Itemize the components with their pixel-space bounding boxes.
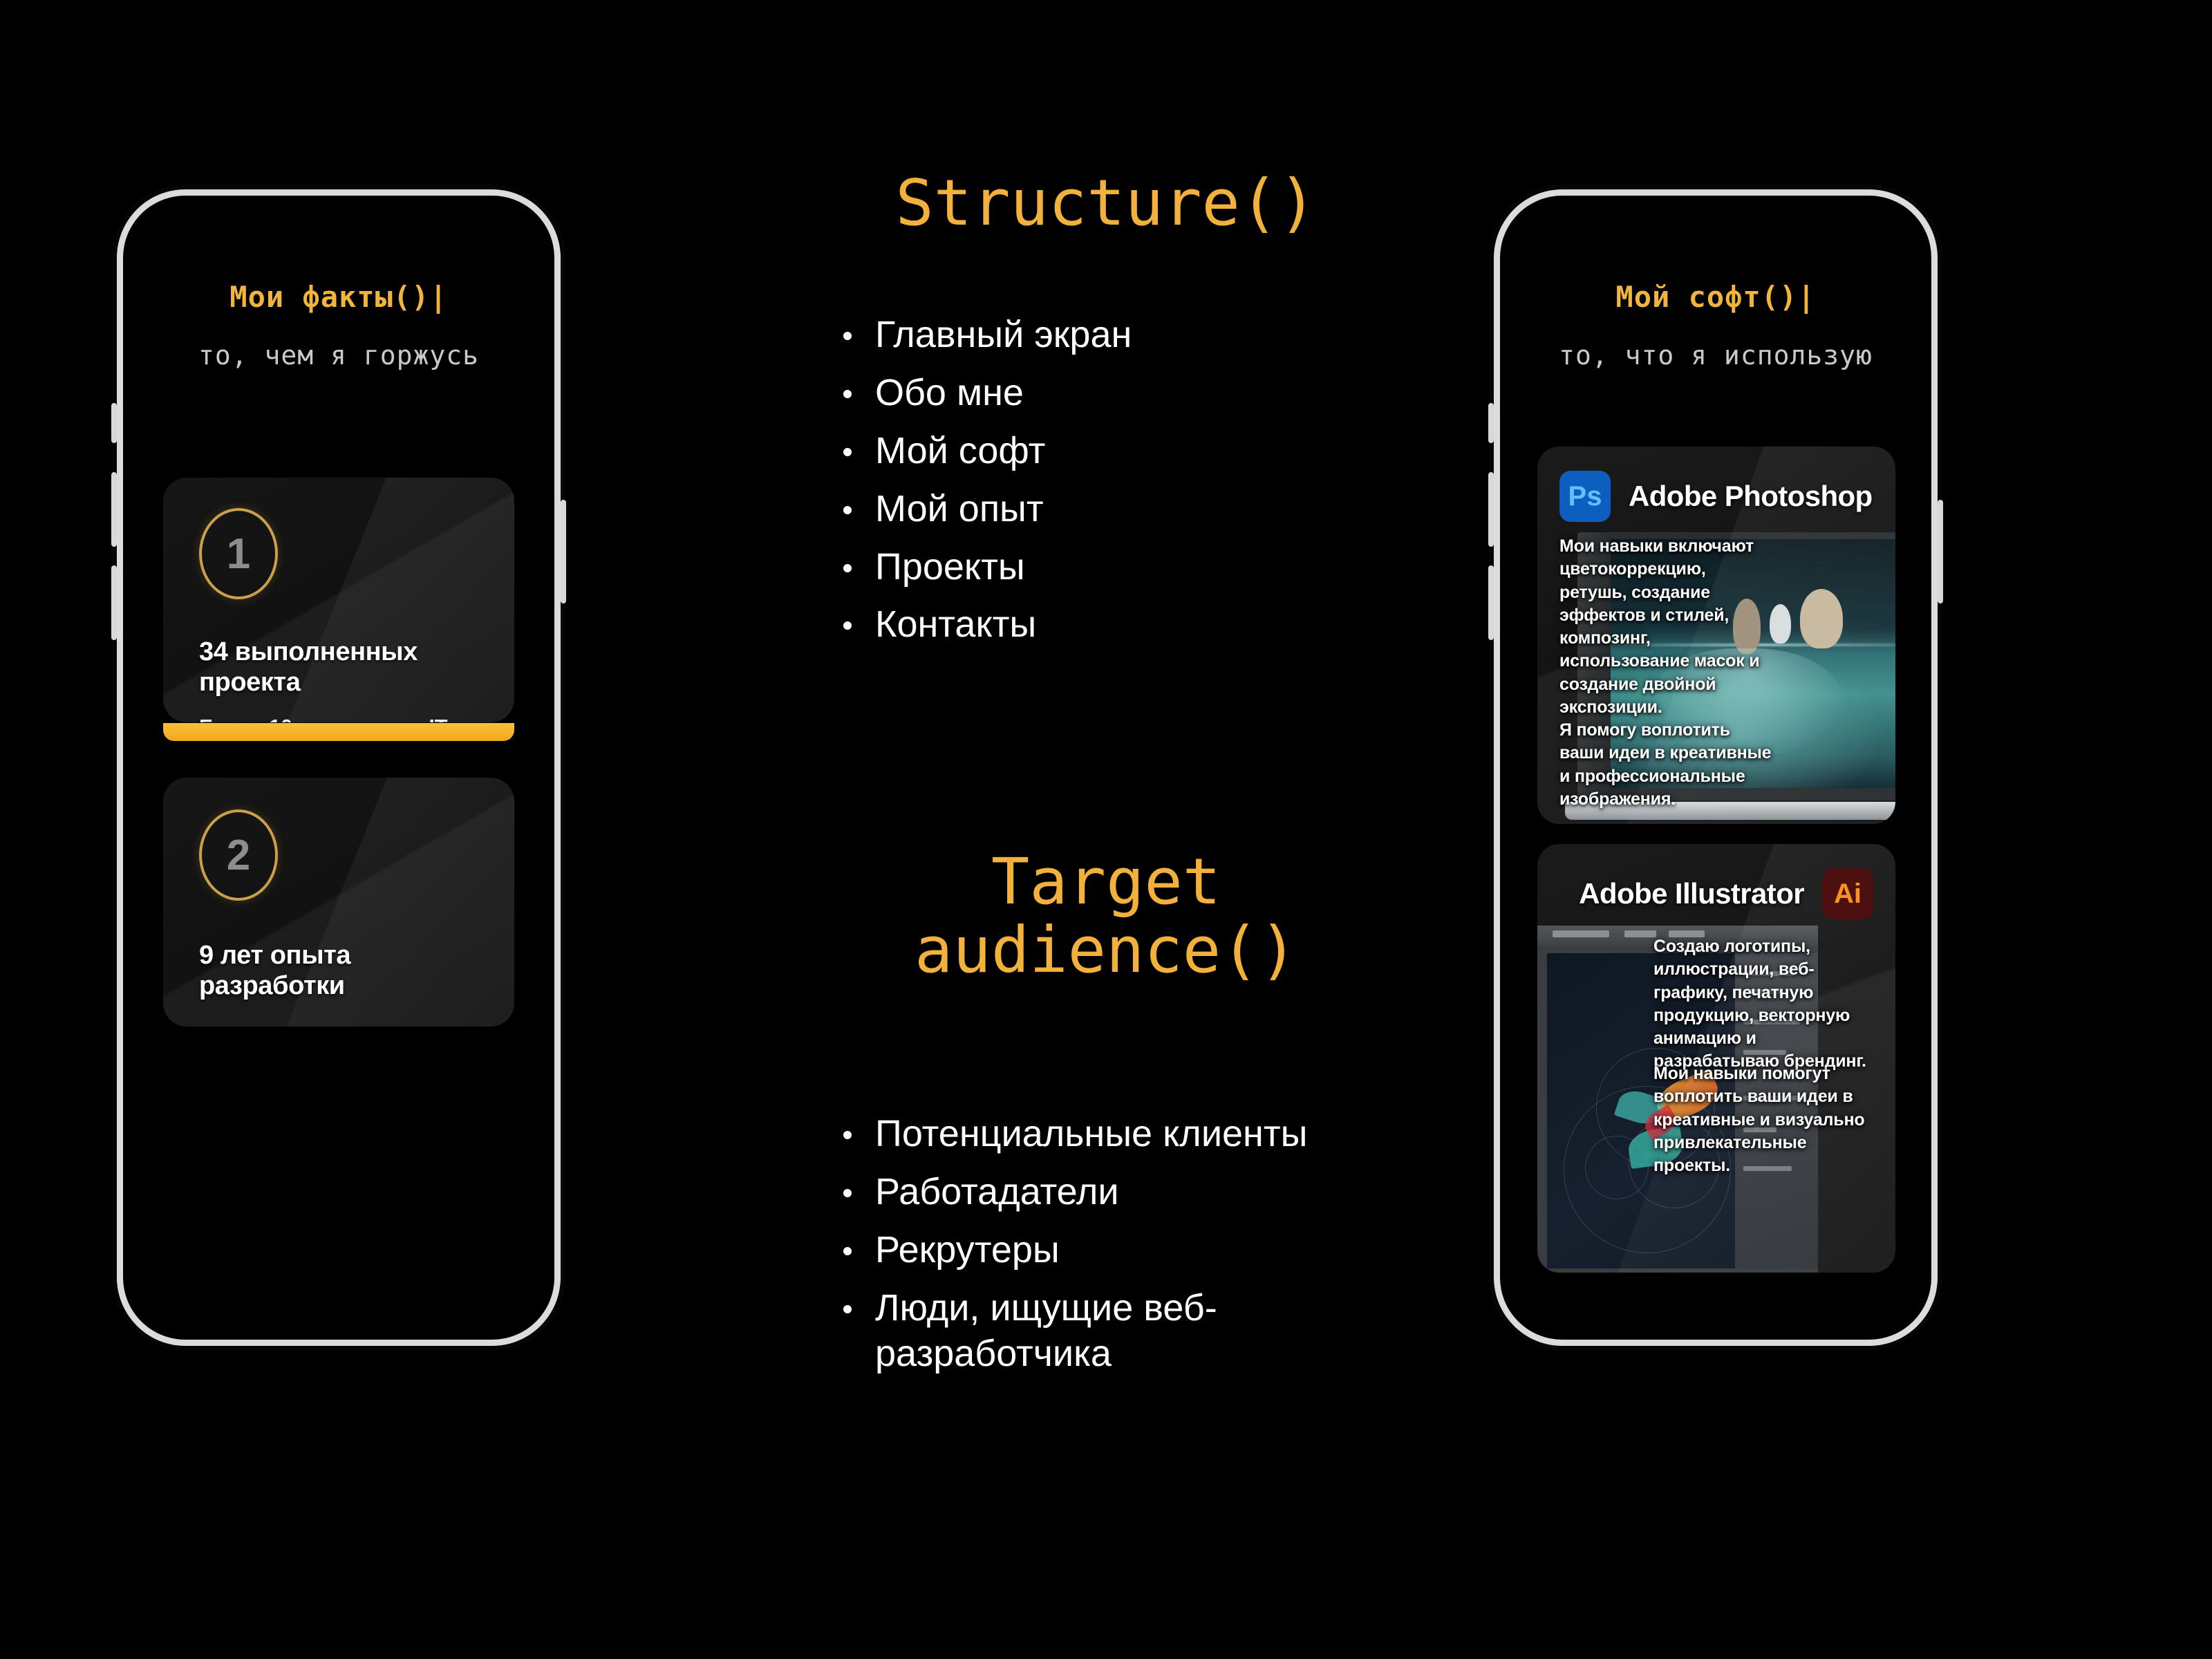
list-item: Обо мне — [828, 371, 1417, 416]
screen-header-right: Мой софт()| то, что я использую — [1512, 208, 1919, 371]
phone-mute-switch[interactable] — [1488, 403, 1494, 443]
list-item: Мой опыт — [828, 487, 1417, 532]
adobe-illustrator-icon: Ai — [1822, 868, 1873, 919]
phone-mockup-left: Мои факты()| то, чем я горжусь 1 34 выпо… — [123, 196, 554, 1340]
fact-number-badge: 2 — [199, 809, 278, 901]
software-card-header: Ps Adobe Photoshop — [1559, 466, 1873, 527]
list-item: Проекты — [828, 545, 1417, 590]
target-audience-heading: Target audience() — [788, 847, 1424, 985]
screen-subtitle: то, что я использую — [1512, 340, 1919, 371]
list-item: Работадатели — [828, 1170, 1417, 1215]
list-item: Главный экран — [828, 312, 1417, 358]
phone-volume-down-button[interactable] — [1488, 565, 1494, 640]
phone-screen-left: Мои факты()| то, чем я горжусь 1 34 выпо… — [135, 208, 542, 1327]
software-name: Adobe Photoshop — [1629, 480, 1873, 513]
software-card-header: Adobe Illustrator Ai — [1559, 863, 1873, 924]
fact-card[interactable]: 2 9 лет опыта разработки — [163, 778, 514, 1027]
screen-header-left: Мои факты()| то, чем я горжусь — [135, 208, 542, 371]
list-item: Рекрутеры — [828, 1228, 1417, 1273]
list-item: Потенциальные клиенты — [828, 1112, 1417, 1157]
screen-subtitle: то, чем я горжусь — [135, 340, 542, 371]
phone-power-button[interactable] — [1938, 500, 1943, 603]
fact-title: 9 лет опыта разработки — [199, 940, 482, 1002]
list-item: Люди, ищущие веб-разработчика — [828, 1286, 1417, 1377]
fact-body: Более 10 лет опыта в IT, работал в крупн… — [199, 711, 487, 722]
card-accent-bar — [163, 723, 514, 741]
list-item: Контакты — [828, 602, 1417, 648]
structure-list: Главный экран Обо мне Мой софт Мой опыт … — [828, 312, 1417, 660]
phone-screen-right: Мой софт()| то, что я использую — [1512, 208, 1919, 1327]
fact-card[interactable]: 1 34 выполненных проекта Более 10 лет оп… — [163, 478, 514, 722]
list-item: Мой софт — [828, 429, 1417, 474]
fact-number-badge: 1 — [199, 508, 278, 599]
software-description: Мои навыки включают цветокоррекцию, рету… — [1559, 535, 1774, 811]
phone-power-button[interactable] — [561, 500, 566, 603]
phone-volume-up-button[interactable] — [111, 472, 117, 547]
center-content-column: Structure() Главный экран Обо мне Мой со… — [788, 0, 1424, 1659]
software-description: Создаю логотипы, иллюстрации, веб-график… — [1653, 935, 1875, 1074]
phone-mockup-right: Мой софт()| то, что я использую — [1500, 196, 1931, 1340]
software-card-illustrator[interactable]: Adobe Illustrator Ai Создаю логотипы, ил… — [1537, 844, 1895, 1273]
phone-mute-switch[interactable] — [111, 403, 117, 443]
structure-heading: Structure() — [788, 169, 1424, 237]
screen-title: Мой софт()| — [1512, 280, 1919, 314]
software-description: Мои навыки помогут воплотить ваши идеи в… — [1653, 1062, 1875, 1177]
figure-shape — [1800, 589, 1843, 648]
software-name: Adobe Illustrator — [1579, 877, 1804, 910]
software-card-photoshop[interactable]: Ps Adobe Photoshop Мои навыки включают ц… — [1537, 447, 1895, 824]
fact-title: 34 выполненных проекта — [199, 637, 482, 698]
phone-volume-down-button[interactable] — [111, 565, 117, 640]
adobe-photoshop-icon: Ps — [1559, 471, 1611, 522]
phone-volume-up-button[interactable] — [1488, 472, 1494, 547]
screen-title: Мои факты()| — [135, 280, 542, 314]
target-audience-list: Потенциальные клиенты Работадатели Рекру… — [828, 1112, 1417, 1389]
